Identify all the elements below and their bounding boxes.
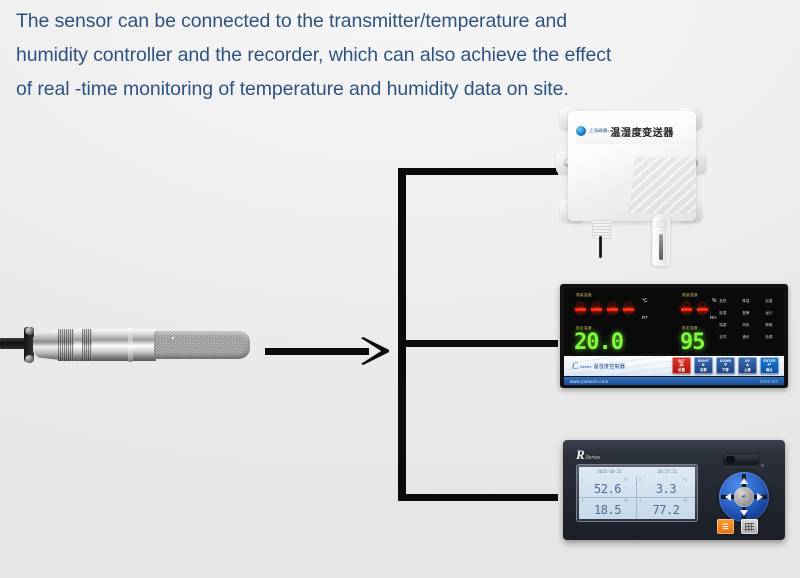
probe-barrel-3	[133, 329, 156, 361]
set-key-sub: 设置	[678, 368, 685, 372]
seg-dash	[591, 308, 602, 311]
recorder-lcd-bezel: 2015-10-22 20:27:11 1 ℃ 52.6 2 ℃ 3.3	[576, 464, 698, 522]
controller-model: 6000-B2	[760, 379, 778, 384]
led-label: 除霜	[714, 322, 732, 327]
dpad-left-arrow-icon[interactable]	[725, 493, 731, 501]
seg-digit: 8	[680, 299, 693, 320]
transmitter-output-wire	[599, 236, 602, 258]
led-label: 除湿	[714, 310, 732, 315]
branch-bracket	[398, 168, 566, 504]
probe-sintered-filter	[154, 331, 250, 359]
company-logo-icon	[576, 126, 586, 136]
pv-humidity-readout: 8 8	[680, 299, 709, 320]
recorder-grid-button[interactable]	[741, 519, 758, 534]
controller-footer-bar: www.yuetech.com 6000-B2	[564, 377, 784, 385]
controller-status-led-grid: 加热 降温 加湿 除湿 报警 运行 除霜 风机 照明 定时 通讯 电源	[714, 298, 778, 346]
led-row: 加热 降温 加湿	[714, 298, 778, 303]
controller-branding: C Series 温湿度控制器	[572, 361, 625, 371]
led-dehumidify: 除湿	[714, 310, 732, 315]
controller-brand-cn: 温湿度控制器	[593, 363, 625, 370]
recorder-button-row: ☰	[717, 519, 758, 534]
enter-key[interactable]: ENTER ↵ 确认	[760, 357, 779, 374]
led-row: 除湿 报警 运行	[714, 310, 778, 315]
lcd-channel-unit: ℃	[683, 499, 687, 503]
slot-status-led	[761, 464, 764, 467]
probe-cap	[657, 221, 667, 228]
flow-arrow-icon	[265, 337, 390, 365]
recorder-display-section: R Series 2015-10-22 20:27:11 1 ℃ 52.6	[563, 440, 711, 540]
transmitter-sensor-probe	[652, 214, 670, 266]
seg-dash	[623, 308, 634, 311]
lcd-channel-unit: ℃	[624, 499, 628, 503]
arrow-shaft	[265, 348, 369, 355]
seg-dash	[607, 308, 618, 311]
led-defrost: 除霜	[714, 322, 732, 327]
sv-temperature-value: 20.0	[574, 332, 623, 354]
controller-keypad[interactable]: SET ☰ 设置 RIGHT ▸ 右移 DOWN ▾ 下移 UP ▴ 上	[672, 357, 779, 374]
led-heat: 加热	[714, 298, 732, 303]
lcd-channel-value: 3.3	[656, 482, 676, 496]
recorder-logo-series: Series	[586, 455, 601, 461]
right-key[interactable]: RIGHT ▸ 右移	[694, 357, 713, 374]
seg-dash	[575, 308, 586, 311]
right-key-sub: 右移	[700, 368, 707, 372]
dpad-center-enter-button[interactable]: ↵	[734, 487, 754, 507]
caption-line-1: The sensor can be connected to the trans…	[16, 4, 676, 38]
lcd-channel-value: 18.5	[594, 503, 621, 517]
led-label: 定时	[714, 334, 732, 339]
lcd-channel-value: 52.6	[594, 482, 621, 496]
probe-clamp-screw-top	[25, 327, 34, 335]
recorder-dpad[interactable]: ↵	[719, 472, 769, 522]
led-label: 报警	[737, 310, 755, 315]
probe-knurl-2	[82, 329, 92, 361]
probe-cone	[33, 330, 61, 360]
lcd-time: 20:27:11	[657, 470, 677, 475]
controller-front-panel: C Series 温湿度控制器 SET ☰ 设置 RIGHT ▸ 右移 DOWN…	[564, 356, 784, 376]
seg-digit: 8	[696, 299, 709, 320]
lcd-cell: 1 ℃ 52.6	[579, 477, 637, 498]
recorder-control-section: ↵ ☰	[713, 440, 785, 540]
led-label: 通讯	[737, 334, 755, 339]
lcd-channel-grid: 1 ℃ 52.6 2 ℃ 3.3 3 ℃ 18.5	[579, 477, 695, 519]
recorder-logo-letter: R	[576, 448, 585, 461]
transmitter-subtitle: Temperature and Humidity Transmitter	[596, 129, 668, 133]
up-key-sub: 上移	[744, 368, 751, 372]
led-label: 风机	[737, 322, 755, 327]
probe-barrel-2	[92, 329, 130, 361]
enclosure-highlight	[629, 157, 696, 213]
illustration-canvas: The sensor can be connected to the trans…	[0, 0, 800, 578]
lcd-channel-number: 2	[639, 478, 641, 482]
controller-brand-mark: C	[572, 361, 578, 371]
probe-barrel-1	[74, 329, 82, 361]
led-power: 电源	[760, 334, 778, 339]
led-run: 运行	[760, 310, 778, 315]
led-alarm: 报警	[737, 310, 755, 315]
controller-website: www.yuetech.com	[570, 379, 608, 384]
led-cool: 降温	[737, 298, 755, 303]
transmitter-enclosure: 上海肖德 温湿度变送器 Temperature and Humidity Tra…	[568, 111, 696, 221]
lcd-channel-value: 77.2	[653, 503, 680, 517]
temperature-rt-label: RT	[642, 315, 648, 320]
led-label: 加湿	[760, 298, 778, 303]
led-label: 运行	[760, 310, 778, 315]
grid-icon	[745, 523, 754, 531]
dpad-up-arrow-icon[interactable]	[740, 478, 748, 484]
pv-temperature-readout: 8 8 8 8	[574, 299, 635, 320]
sv-humidity-value: 95	[680, 332, 705, 354]
recorder-logo: R Series	[576, 448, 600, 461]
led-label: 照明	[760, 322, 778, 327]
device-controller: 測量温度 8 8 8 8 ℃ RT 設定温度 20.0 測量湿度 8 8 % R…	[560, 284, 788, 388]
recorder-lcd-screen[interactable]: 2015-10-22 20:27:11 1 ℃ 52.6 2 ℃ 3.3	[579, 467, 695, 519]
bracket-branch-bottom	[398, 494, 558, 501]
device-transmitter: 上海肖德 温湿度变送器 Temperature and Humidity Tra…	[556, 108, 736, 258]
lcd-cell: 2 ℃ 3.3	[637, 477, 695, 498]
seg-dash	[697, 308, 708, 311]
lcd-date: 2015-10-22	[597, 470, 621, 475]
controller-display: 測量温度 8 8 8 8 ℃ RT 設定温度 20.0 測量湿度 8 8 % R…	[564, 288, 784, 354]
set-key[interactable]: SET ☰ 设置	[672, 357, 691, 374]
lcd-channel-unit: ℃	[624, 478, 628, 482]
led-comm: 通讯	[737, 334, 755, 339]
bracket-vertical-line	[398, 168, 406, 501]
led-row: 定时 通讯 电源	[714, 334, 778, 339]
lcd-header: 2015-10-22 20:27:11	[579, 467, 695, 477]
lcd-channel-unit: ℃	[683, 478, 687, 482]
led-fan: 风机	[737, 322, 755, 327]
led-row: 除霜 风机 照明	[714, 322, 778, 327]
seg-dash	[681, 308, 692, 311]
recorder-menu-button[interactable]: ☰	[717, 519, 734, 534]
led-label: 降温	[737, 298, 755, 303]
bracket-branch-middle	[398, 340, 558, 347]
probe-vent-slot	[659, 234, 663, 260]
probe-knurl-1	[58, 329, 74, 361]
controller-brand-series: Series	[580, 364, 591, 369]
led-label: 电源	[760, 334, 778, 339]
temperature-unit: ℃	[642, 298, 648, 304]
bracket-branch-top	[398, 168, 558, 175]
seg-digit: 8	[622, 299, 635, 320]
lcd-channel-number: 3	[581, 499, 583, 503]
recorder-media-slot[interactable]	[723, 453, 759, 466]
up-key[interactable]: UP ▴ 上移	[738, 357, 757, 374]
led-light: 照明	[760, 322, 778, 327]
led-humidify: 加湿	[760, 298, 778, 303]
caption-line-3: of real -time monitoring of temperature …	[16, 72, 676, 106]
seg-digit: 8	[590, 299, 603, 320]
led-timer: 定时	[714, 334, 732, 339]
seg-digit: 8	[574, 299, 587, 320]
dpad-right-arrow-icon[interactable]	[757, 493, 763, 501]
probe-clamp-screw-bottom	[25, 355, 34, 363]
enter-key-sub: 确认	[766, 368, 773, 372]
sensor-probe	[0, 318, 252, 374]
down-key-sub: 下移	[722, 368, 729, 372]
device-recorder: R Series 2015-10-22 20:27:11 1 ℃ 52.6	[563, 440, 785, 540]
lcd-channel-number: 4	[639, 499, 641, 503]
dpad-down-arrow-icon[interactable]	[740, 510, 748, 516]
caption-line-2: humidity controller and the recorder, wh…	[16, 38, 676, 72]
lcd-cell: 4 ℃ 77.2	[637, 498, 695, 519]
down-key[interactable]: DOWN ▾ 下移	[716, 357, 735, 374]
caption-text: The sensor can be connected to the trans…	[16, 4, 676, 106]
lcd-channel-number: 1	[581, 478, 583, 482]
led-label: 加热	[714, 298, 732, 303]
lcd-cell: 3 ℃ 18.5	[579, 498, 637, 519]
seg-digit: 8	[606, 299, 619, 320]
slot-notch	[726, 456, 735, 463]
